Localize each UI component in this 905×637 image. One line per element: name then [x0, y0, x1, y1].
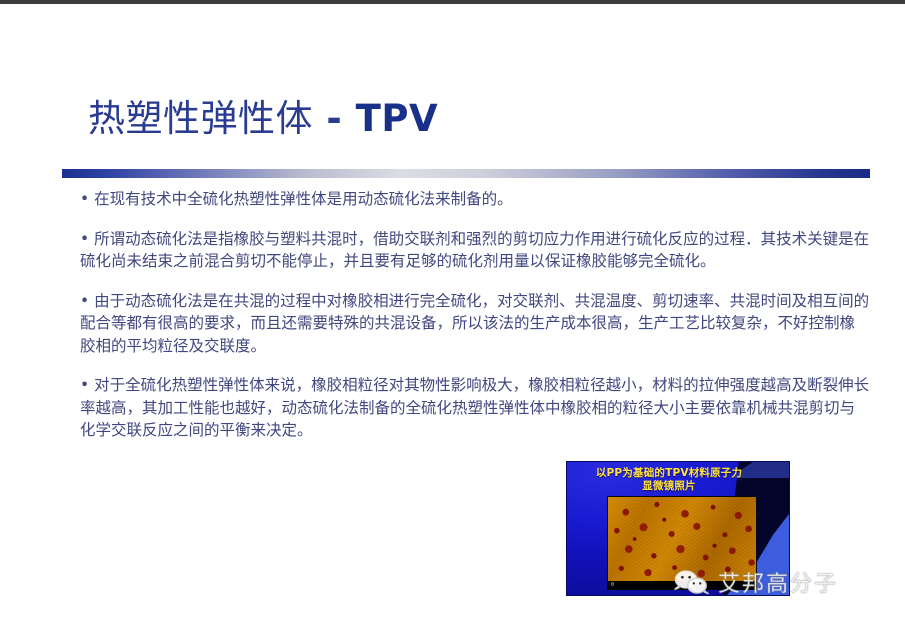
page-title-acronym: TPV — [356, 97, 439, 140]
top-edge-strip — [0, 0, 905, 4]
bullet-paragraph: • 所谓动态硫化法是指橡胶与塑料共混时，借助交联剂和强烈的剪切应力作用进行硫化反… — [80, 228, 870, 273]
afm-micrograph-image — [608, 497, 756, 581]
bullet-paragraph: • 对于全硫化热塑性弹性体来说，橡胶相粒径对其物性影响极大，橡胶相粒径越小，材料… — [80, 374, 870, 442]
afm-scale-label: 0 — [611, 582, 614, 588]
afm-micrograph: 0 — [607, 496, 757, 590]
title-divider — [62, 169, 870, 178]
slide-canvas: 热塑性弹性体 - TPV • 在现有技术中全硫化热塑性弹性体是用动态硫化法来制备… — [0, 0, 905, 637]
bullet-paragraph: • 在现有技术中全硫化热塑性弹性体是用动态硫化法来制备的。 — [80, 188, 870, 211]
page-title-separator: - — [313, 97, 356, 140]
inset-heading: 以PP为基础的TPV材料原子力 显微镜照片 — [575, 467, 763, 493]
inset-heading-line-1: 以PP为基础的TPV材料原子力 — [575, 467, 763, 480]
page-title: 热塑性弹性体 - TPV — [88, 100, 438, 139]
inset-slide-thumbnail: 以PP为基础的TPV材料原子力 显微镜照片 0 — [567, 462, 789, 595]
bullet-paragraph: • 由于动态硫化法是在共混的过程中对橡胶相进行完全硫化，对交联剂、共混温度、剪切… — [80, 290, 870, 358]
afm-micrograph-grain — [608, 497, 756, 581]
page-title-chinese: 热塑性弹性体 — [88, 97, 313, 140]
body-text-block: • 在现有技术中全硫化热塑性弹性体是用动态硫化法来制备的。 • 所谓动态硫化法是… — [80, 188, 870, 442]
inset-heading-line-2: 显微镜照片 — [575, 480, 763, 493]
